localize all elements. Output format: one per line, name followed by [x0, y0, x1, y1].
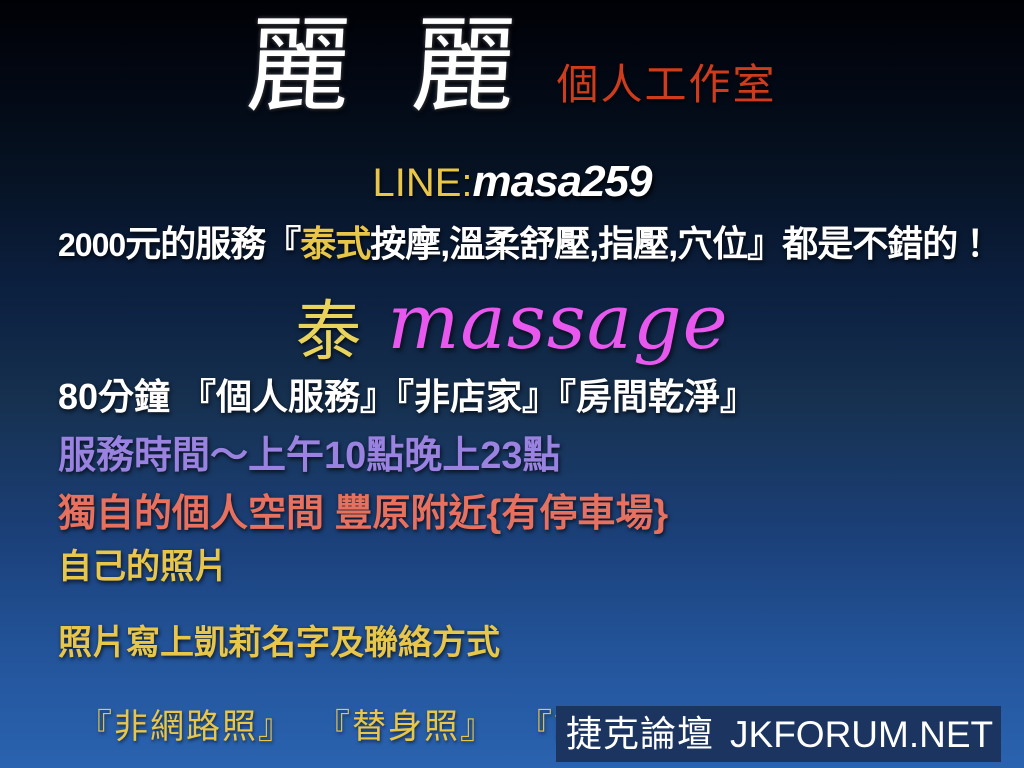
massage-en-word: massage — [387, 277, 728, 366]
price-service-line: 2000元的服務『泰式按摩,溫柔舒壓,指壓,穴位』都是不錯的！ — [58, 226, 992, 262]
line-id-value: masa259 — [473, 157, 652, 206]
poster-canvas: 麗 麗 個人工作室 LINE:masa259 2000元的服務『泰式按摩,溫柔舒… — [0, 0, 1024, 768]
massage-cn-char: 泰 — [295, 293, 361, 370]
info-own-photo-line: 自己的照片 — [58, 550, 228, 584]
disclaimer-no-substitute: 『替身照』 — [316, 708, 496, 746]
watermark-domain-text: JKFORUM.NET — [730, 716, 993, 753]
price-text-part1: 元的服務『 — [125, 223, 300, 264]
price-amount: 2000 — [58, 227, 125, 263]
info-duration-line: 80分鐘 『個人服務』『非店家』『房間乾淨』 — [58, 379, 756, 415]
info-photo-name-line: 照片寫上凱莉名字及聯絡方式 — [58, 626, 500, 660]
info-hours-line: 服務時間～上午10點晚上23點 — [58, 437, 561, 475]
line-label: LINE: — [373, 161, 473, 205]
forum-watermark: 捷克論壇 JKFORUM.NET — [556, 706, 1001, 762]
studio-subtitle: 個人工作室 — [557, 64, 777, 118]
info-location-line: 獨自的個人空間 豐原附近{有停車場} — [58, 495, 668, 533]
disclaimer-not-web-photo: 『非網路照』 — [78, 708, 294, 746]
price-highlight-thai: 泰式 — [300, 223, 370, 264]
studio-name: 麗 麗 — [245, 14, 534, 118]
title-block: 麗 麗 個人工作室 — [0, 14, 1024, 118]
massage-headline: 泰massage — [0, 284, 1024, 365]
watermark-cn-text: 捷克論壇 — [566, 716, 714, 752]
line-contact-block: LINE:masa259 — [0, 160, 1024, 204]
price-text-part2: 按摩,溫柔舒壓,指壓,穴位』都是不錯的！ — [370, 223, 992, 264]
